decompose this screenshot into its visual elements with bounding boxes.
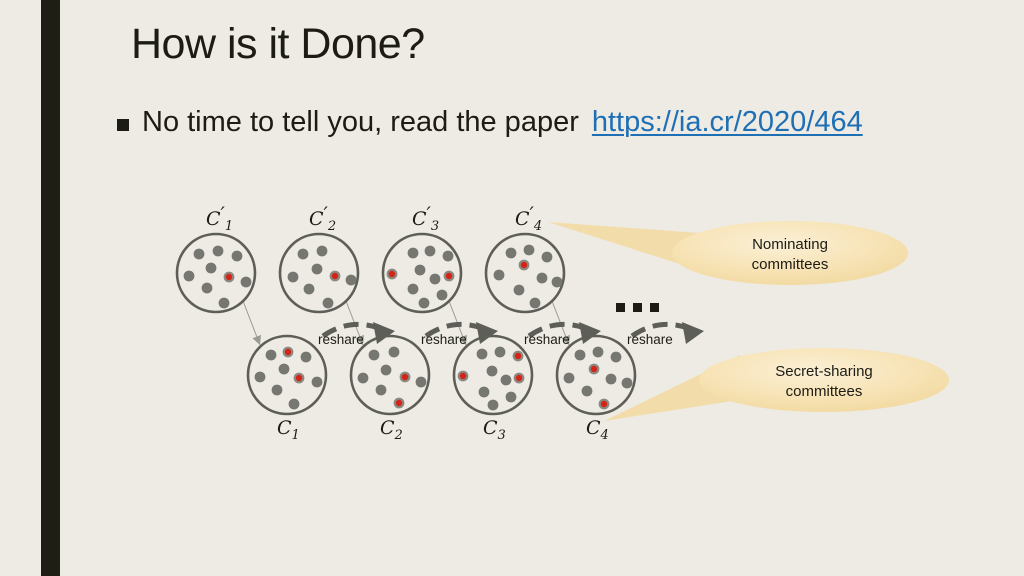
nominating-committee-3: C′3	[383, 203, 461, 312]
member-dot-ring	[400, 372, 411, 383]
accent-bar	[41, 0, 60, 576]
label-subscript: 3	[431, 219, 439, 234]
member-dot	[582, 386, 593, 397]
reshare-arrow-layer: resharereshareresharereshare	[318, 322, 704, 347]
member-dot	[575, 350, 586, 361]
bullet-text: No time to tell you, read the paper	[142, 106, 579, 139]
nomination-arrow-2	[346, 301, 364, 345]
callout-layer: NominatingcommitteesSecret-sharingcommit…	[548, 221, 949, 421]
secret-sharing-committee-layer: C1C2C3C4	[248, 336, 635, 443]
callout-line: committees	[786, 383, 863, 400]
callout-tail	[604, 355, 752, 421]
member-dot	[202, 283, 213, 294]
reshare-arc	[529, 324, 585, 336]
committee-label: C2	[380, 417, 403, 443]
committee-circle	[486, 234, 564, 312]
member-dot	[301, 352, 312, 363]
member-dot	[323, 298, 334, 309]
label-subscript: 2	[394, 428, 403, 443]
member-dot	[346, 275, 357, 286]
nomination-arrow-3	[449, 301, 467, 345]
member-dot-ring	[224, 272, 235, 283]
nominating-committee-1: C′1	[177, 203, 255, 312]
committee-circle	[280, 234, 358, 312]
committee-circle	[351, 336, 429, 414]
page-title: How is it Done?	[131, 22, 425, 67]
nomination-arrow-line	[243, 301, 260, 345]
member-dot	[552, 277, 563, 288]
reshare-arrow-head	[373, 322, 395, 344]
member-dot-special	[389, 271, 395, 277]
member-dot	[312, 377, 323, 388]
member-dot	[564, 373, 575, 384]
nomination-arrow-head	[253, 335, 262, 345]
reshare-arc	[323, 324, 379, 336]
committee-circle	[177, 234, 255, 312]
label-subscript: 2	[327, 219, 336, 234]
member-dot-special	[591, 366, 597, 372]
member-dot	[376, 385, 387, 396]
member-dot-ring	[330, 271, 341, 282]
callout-balloon	[699, 348, 949, 412]
member-dot-special	[601, 401, 607, 407]
callout-nominating: Nominatingcommittees	[548, 221, 908, 285]
paper-link[interactable]: https://ia.cr/2020/464	[592, 106, 863, 139]
secret-sharing-committee-1: C1	[248, 336, 326, 443]
reshare-arrow-head	[476, 322, 498, 344]
committee-circle	[248, 336, 326, 414]
member-dot	[530, 298, 541, 309]
member-dot	[317, 246, 328, 257]
member-dot	[419, 298, 430, 309]
member-dot-ring	[294, 373, 305, 384]
member-dot-ring	[514, 373, 525, 384]
committee-label: C4	[586, 417, 609, 443]
square-bullet-icon	[117, 119, 129, 131]
label-subscript: 4	[533, 219, 542, 234]
committee-label: C′4	[515, 203, 542, 234]
reshare-label: reshare	[421, 332, 467, 347]
label-subscript: 1	[292, 428, 300, 443]
member-dot	[298, 249, 309, 260]
member-dot	[494, 270, 505, 281]
nomination-arrow-1	[243, 301, 261, 345]
nominating-committee-layer: C′1C′2C′3C′4	[177, 203, 564, 312]
prime-mark: ′	[221, 203, 226, 225]
member-dot-ring	[589, 364, 600, 375]
member-dot	[611, 352, 622, 363]
member-dot	[425, 246, 436, 257]
member-dot	[593, 347, 604, 358]
diagram-svg: NominatingcommitteesSecret-sharingcommit…	[0, 0, 1024, 576]
reshare-arrow-head	[682, 322, 704, 344]
nomination-arrow-layer	[243, 301, 570, 345]
member-dot	[194, 249, 205, 260]
member-dot	[289, 399, 300, 410]
callout-balloon	[672, 221, 908, 285]
ellipsis-dot	[650, 303, 659, 312]
member-dot	[408, 248, 419, 259]
ellipsis-text: ...	[616, 288, 618, 290]
member-dot-special	[446, 273, 452, 279]
callout-line: Nominating	[752, 236, 828, 253]
label-subscript: 4	[600, 428, 609, 443]
member-dot	[219, 298, 230, 309]
member-dot	[255, 372, 266, 383]
member-dot-ring	[283, 347, 294, 358]
member-dot-special	[396, 400, 402, 406]
committee-circle	[383, 234, 461, 312]
member-dot	[416, 377, 427, 388]
reshare-arrow-1: reshare	[318, 322, 395, 347]
member-dot-special	[332, 273, 338, 279]
member-dot	[232, 251, 243, 262]
committee-label: C1	[277, 417, 300, 443]
callout-secret-sharing: Secret-sharingcommittees	[604, 348, 949, 421]
member-dot	[272, 385, 283, 396]
ellipsis-dot	[616, 303, 625, 312]
nominating-committee-4: C′4	[486, 203, 564, 312]
member-dot	[415, 265, 426, 276]
member-dot	[487, 366, 498, 377]
member-dot	[288, 272, 299, 283]
member-dot	[184, 271, 195, 282]
reshare-arc	[632, 324, 688, 336]
member-dot	[506, 248, 517, 259]
member-dot-special	[285, 349, 291, 355]
committee-circle	[557, 336, 635, 414]
nomination-arrow-head	[459, 335, 468, 345]
member-dot	[408, 284, 419, 295]
member-dot-ring	[387, 269, 398, 280]
member-dot	[514, 285, 525, 296]
nomination-arrow-line	[449, 301, 466, 345]
nomination-arrow-head	[562, 335, 571, 345]
secret-sharing-committee-4: C4	[557, 336, 635, 443]
nomination-arrow-line	[346, 301, 363, 345]
committee-diagram: NominatingcommitteesSecret-sharingcommit…	[0, 0, 1024, 576]
nominating-committee-2: C′2	[280, 203, 358, 312]
prime-mark: ′	[427, 203, 432, 225]
member-dot-ring	[394, 398, 405, 409]
reshare-arrow-head	[579, 322, 601, 344]
secret-sharing-committee-3: C3	[454, 336, 532, 443]
nomination-arrow-4	[552, 301, 570, 345]
reshare-arrow-3: reshare	[524, 322, 601, 347]
bullet-line: No time to tell you, read the paper http…	[117, 106, 863, 139]
member-dot	[304, 284, 315, 295]
reshare-arrow-4: reshare	[627, 322, 704, 347]
label-subscript: 1	[225, 219, 233, 234]
member-dot	[495, 347, 506, 358]
member-dot-ring	[513, 351, 524, 362]
reshare-label: reshare	[524, 332, 570, 347]
member-dot	[542, 252, 553, 263]
member-dot	[443, 251, 454, 262]
member-dot	[279, 364, 290, 375]
member-dot	[437, 290, 448, 301]
member-dot-ring	[599, 399, 610, 410]
secret-sharing-committee-2: C2	[351, 336, 429, 443]
ellipsis-dot	[633, 303, 642, 312]
committee-label: C′1	[206, 203, 233, 234]
member-dot	[312, 264, 323, 275]
member-dot-ring	[458, 371, 469, 382]
member-dot	[241, 277, 252, 288]
ellipsis-layer: ...	[616, 288, 659, 312]
member-dot	[266, 350, 277, 361]
member-dot-special	[226, 274, 232, 280]
callout-line: committees	[752, 256, 829, 273]
member-dot	[537, 273, 548, 284]
committee-label: C3	[483, 417, 506, 443]
member-dot	[622, 378, 633, 389]
member-dot	[369, 350, 380, 361]
member-dot	[213, 246, 224, 257]
committee-label: C′3	[412, 203, 439, 234]
member-dot-ring	[519, 260, 530, 271]
member-dot	[524, 245, 535, 256]
callout-line: Secret-sharing	[775, 363, 873, 380]
member-dot-special	[402, 374, 408, 380]
member-dot-special	[521, 262, 527, 268]
member-dot	[358, 373, 369, 384]
member-dot	[477, 349, 488, 360]
member-dot-special	[516, 375, 522, 381]
member-dot	[381, 365, 392, 376]
reshare-label: reshare	[627, 332, 673, 347]
label-subscript: 3	[498, 428, 506, 443]
member-dot	[206, 263, 217, 274]
member-dot	[606, 374, 617, 385]
member-dot	[479, 387, 490, 398]
nomination-arrow-line	[552, 301, 569, 345]
callout-tail	[548, 222, 705, 272]
reshare-arrow-2: reshare	[421, 322, 498, 347]
reshare-label: reshare	[318, 332, 364, 347]
committee-circle	[454, 336, 532, 414]
member-dot	[501, 375, 512, 386]
member-dot	[389, 347, 400, 358]
committee-label: C′2	[309, 203, 336, 234]
member-dot-special	[515, 353, 521, 359]
member-dot	[506, 392, 517, 403]
member-dot-special	[296, 375, 302, 381]
member-dot-special	[460, 373, 466, 379]
prime-mark: ′	[324, 203, 329, 225]
reshare-arc	[426, 324, 482, 336]
slide-canvas: How is it Done? No time to tell you, rea…	[0, 0, 1024, 576]
member-dot-ring	[444, 271, 455, 282]
prime-mark: ′	[530, 203, 535, 225]
nomination-arrow-head	[356, 335, 365, 345]
member-dot	[488, 400, 499, 411]
member-dot	[430, 274, 441, 285]
